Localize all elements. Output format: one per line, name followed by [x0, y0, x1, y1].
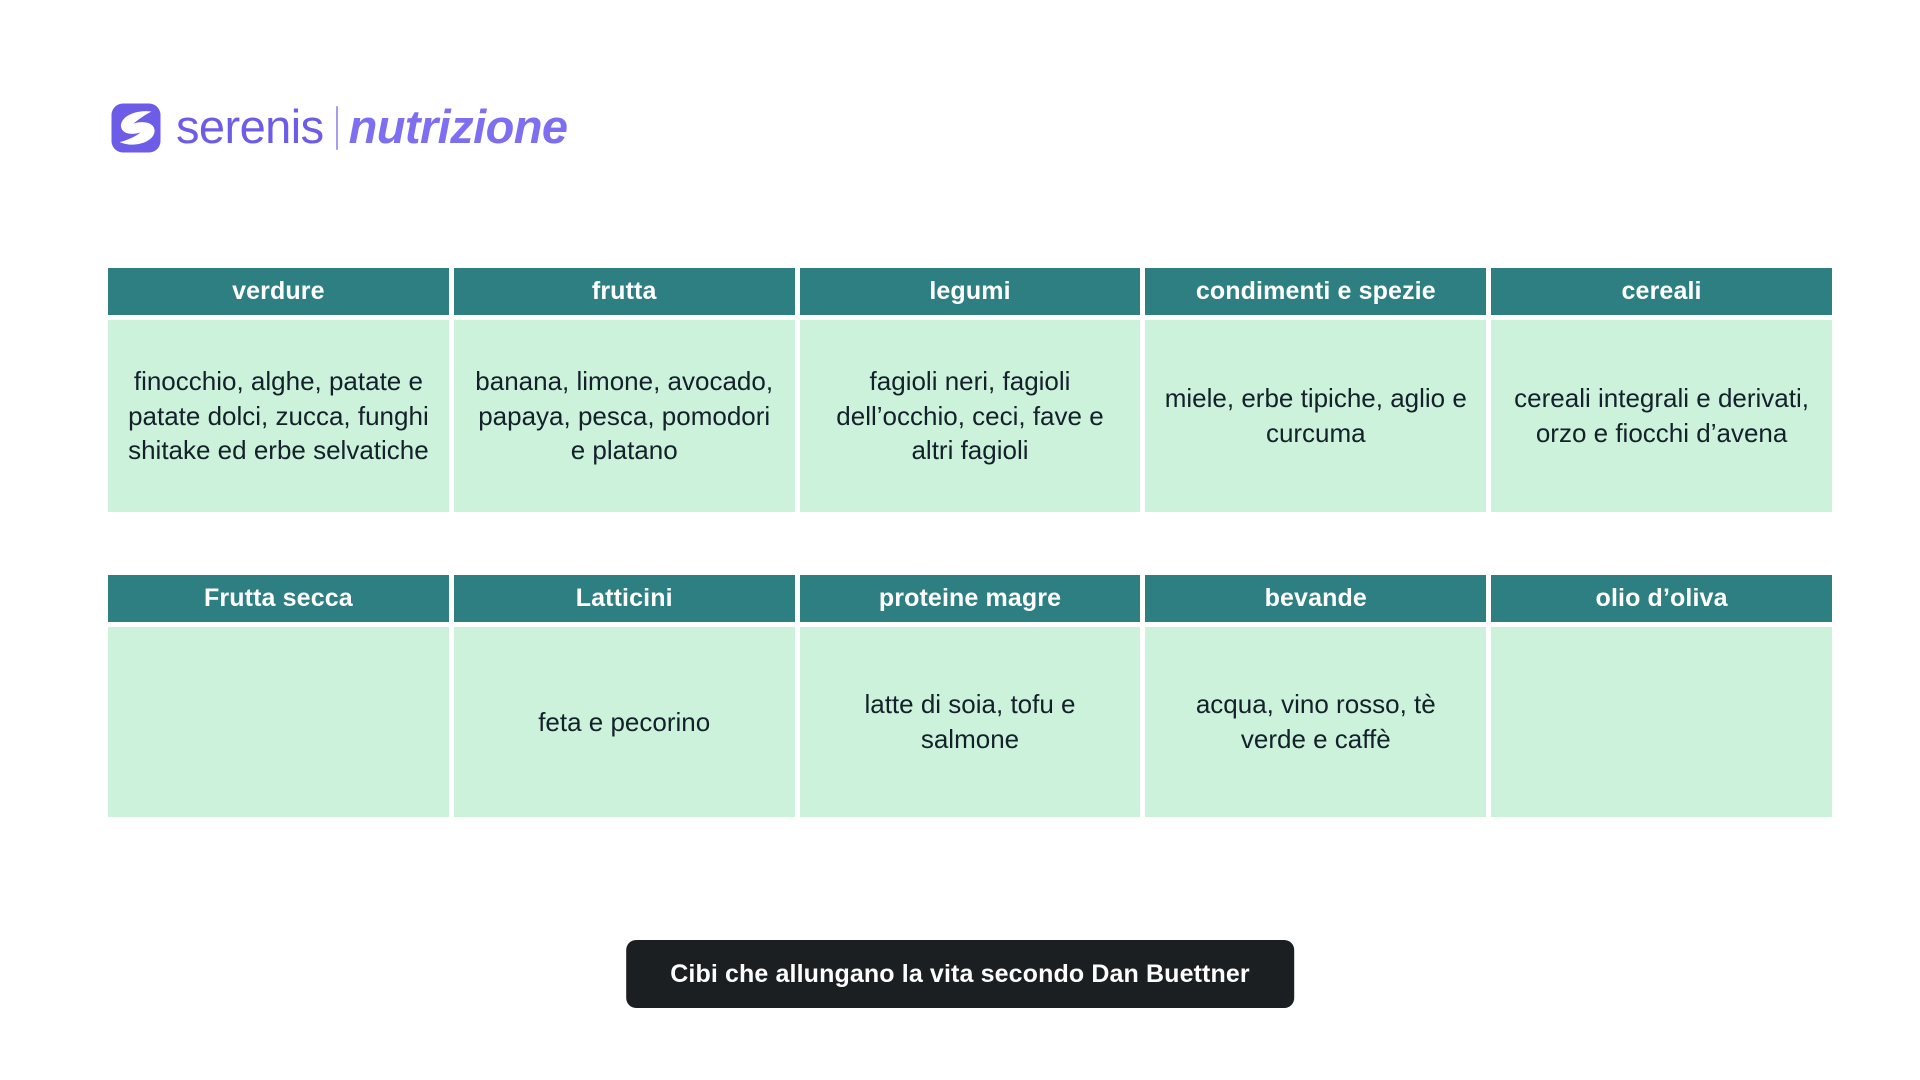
column-header-olio-doliva: olio d’oliva [1491, 575, 1832, 622]
table-cell-cereali: cereali integrali e derivati, orzo e fio… [1491, 320, 1832, 512]
table-cell-condimenti-e-spezie: miele, erbe tipiche, aglio e curcuma [1145, 320, 1486, 512]
column-header-condimenti-e-spezie: condimenti e spezie [1145, 268, 1486, 315]
column-header-latticini: Latticini [454, 575, 795, 622]
brand-divider-icon [336, 106, 338, 150]
brand-logo[interactable]: serenis nutrizione [110, 98, 567, 158]
column-header-verdure: verdure [108, 268, 449, 315]
table-header-row: Frutta secca Latticini proteine magre be… [108, 575, 1832, 622]
table-body-row: finocchio, alghe, patate e patate dolci,… [108, 320, 1832, 512]
column-header-proteine-magre: proteine magre [800, 575, 1141, 622]
serenis-swoosh-icon [110, 102, 162, 154]
column-header-bevande: bevande [1145, 575, 1486, 622]
brand-product-name: nutrizione [349, 103, 568, 153]
table-cell-latticini: feta e pecorino [454, 627, 795, 817]
food-category-table-1: verdure frutta legumi condimenti e spezi… [108, 268, 1832, 512]
column-header-frutta: frutta [454, 268, 795, 315]
table-cell-bevande: acqua, vino rosso, tè verde e caffè [1145, 627, 1486, 817]
caption-button[interactable]: Cibi che allungano la vita secondo Dan B… [626, 940, 1294, 1008]
table-cell-olio-doliva [1491, 627, 1832, 817]
table-cell-frutta: banana, limone, avocado, papaya, pesca, … [454, 320, 795, 512]
table-body-row: feta e pecorino latte di soia, tofu e sa… [108, 627, 1832, 817]
table-cell-legumi: fagioli neri, fagioli dell’occhio, ceci,… [800, 320, 1141, 512]
table-cell-proteine-magre: latte di soia, tofu e salmone [800, 627, 1141, 817]
brand-wordmark: serenis nutrizione [176, 103, 567, 153]
table-header-row: verdure frutta legumi condimenti e spezi… [108, 268, 1832, 315]
column-header-frutta-secca: Frutta secca [108, 575, 449, 622]
table-cell-frutta-secca [108, 627, 449, 817]
food-category-table-2: Frutta secca Latticini proteine magre be… [108, 575, 1832, 817]
brand-name: serenis [176, 103, 324, 153]
table-cell-verdure: finocchio, alghe, patate e patate dolci,… [108, 320, 449, 512]
column-header-legumi: legumi [800, 268, 1141, 315]
column-header-cereali: cereali [1491, 268, 1832, 315]
